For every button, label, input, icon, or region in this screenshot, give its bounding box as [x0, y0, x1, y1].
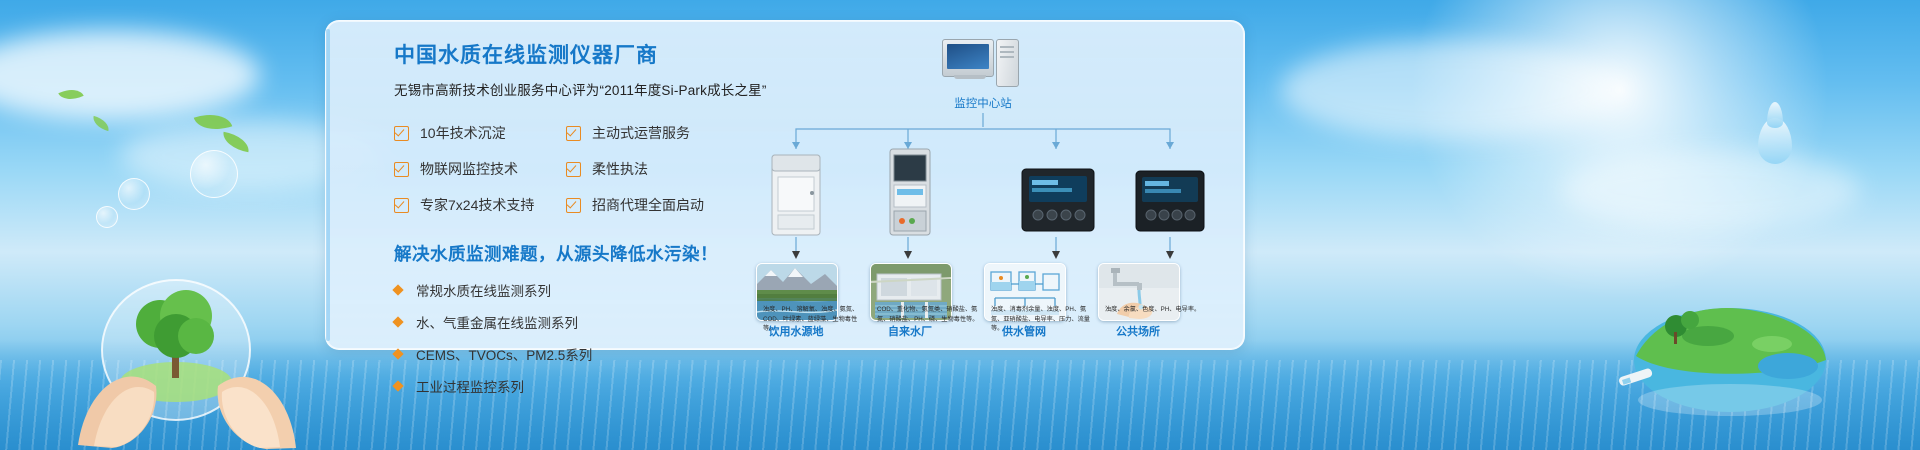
page-subtitle: 无锡市高新技术创业服务中心评为“2011年度Si-Park成长之星”	[394, 79, 754, 99]
device-rack-analyzer	[878, 147, 942, 239]
device-cabinet-analyzer	[762, 153, 832, 239]
diamond-bullet-icon	[392, 349, 403, 360]
application-desc: 浊度、余氯、色度、PH、电导率。	[1105, 305, 1209, 315]
feature-label: 招商代理全面启动	[592, 195, 704, 215]
checkbox-icon	[566, 198, 581, 213]
monitoring-center-computer-icon	[942, 39, 1024, 87]
section-heading: 解决水质监测难题，从源头降低水污染！	[394, 241, 754, 266]
bubble-icon	[96, 206, 118, 228]
checkbox-icon	[566, 126, 581, 141]
list-item: 工业过程监控系列	[394, 376, 754, 396]
application-desc: 浊度、消毒剂余量、浊度、PH、氨氮、亚硝酸盐、电导率、压力、流量等。	[991, 305, 1095, 334]
cloud-1	[0, 30, 260, 120]
feature-item: 主动式运营服务	[566, 123, 746, 143]
list-item: 常规水质在线监测系列	[394, 280, 754, 300]
list-item-label: 水、气重金属在线监测系列	[416, 312, 578, 332]
diamond-bullet-icon	[392, 285, 403, 296]
bubble-icon	[190, 150, 238, 198]
application-desc: COD、重化物、氨氮类、硝酸盐、氨氮、硝酸盐、PH、磷、生物毒性等。	[877, 305, 981, 324]
list-item-label: 工业过程监控系列	[416, 376, 524, 396]
feature-item: 柔性执法	[566, 159, 746, 179]
hands-holding-tree-illustration	[68, 240, 318, 450]
device-to-application-arrows	[756, 237, 1216, 263]
feature-label: 专家7x24技术支持	[420, 195, 534, 215]
monitor-screen	[947, 44, 989, 69]
monitoring-topology-diagram: 监控中心站	[756, 35, 1216, 335]
device-controller-dark	[1132, 167, 1208, 239]
topology-connector-lines	[756, 111, 1216, 155]
feature-label: 10年技术沉淀	[420, 123, 506, 143]
green-globe-illustration	[1612, 274, 1842, 424]
leaf-icon	[221, 132, 251, 153]
checkbox-icon	[394, 126, 409, 141]
feature-checklist: 10年技术沉淀 主动式运营服务 物联网监控技术 柔性执法 专家7x24技术支持 …	[394, 123, 754, 215]
application-desc: 浊度、PH、溶解氧、浊度、氨氮、COD、叶绿素、蓝绿藻、生物毒性等。	[763, 305, 867, 334]
list-item-label: CEMS、TVOCs、PM2.5系列	[416, 344, 592, 364]
pc-tower-icon	[996, 39, 1019, 87]
feature-label: 物联网监控技术	[420, 159, 518, 179]
hero-panel: 中国水质在线监测仪器厂商 无锡市高新技术创业服务中心评为“2011年度Si-Pa…	[325, 20, 1245, 350]
feature-item: 专家7x24技术支持	[394, 195, 566, 215]
page-title: 中国水质在线监测仪器厂商	[394, 43, 754, 68]
product-series-list: 常规水质在线监测系列 水、气重金属在线监测系列 CEMS、TVOCs、PM2.5…	[394, 280, 754, 396]
list-item-label: 常规水质在线监测系列	[416, 280, 551, 300]
list-item: CEMS、TVOCs、PM2.5系列	[394, 344, 754, 364]
leaf-icon	[91, 116, 111, 131]
checkbox-icon	[394, 198, 409, 213]
bubble-icon	[118, 178, 150, 210]
checkbox-icon	[394, 162, 409, 177]
monitor-icon	[942, 39, 994, 77]
leaf-icon	[58, 84, 83, 105]
checkbox-icon	[566, 162, 581, 177]
feature-label: 主动式运营服务	[592, 123, 690, 143]
device-controller-black	[1018, 165, 1098, 239]
hero-text-block: 中国水质在线监测仪器厂商 无锡市高新技术创业服务中心评为“2011年度Si-Pa…	[394, 43, 754, 408]
monitor-stand	[954, 75, 986, 79]
list-item: 水、气重金属在线监测系列	[394, 312, 754, 332]
feature-item: 10年技术沉淀	[394, 123, 566, 143]
center-station-label: 监控中心站	[908, 95, 1058, 111]
diamond-bullet-icon	[392, 317, 403, 328]
feature-label: 柔性执法	[592, 159, 648, 179]
application-descriptions: 浊度、PH、溶解氧、浊度、氨氮、COD、叶绿素、蓝绿藻、生物毒性等。 COD、重…	[763, 305, 1223, 355]
diamond-bullet-icon	[392, 381, 403, 392]
feature-item: 招商代理全面启动	[566, 195, 746, 215]
feature-item: 物联网监控技术	[394, 159, 566, 179]
